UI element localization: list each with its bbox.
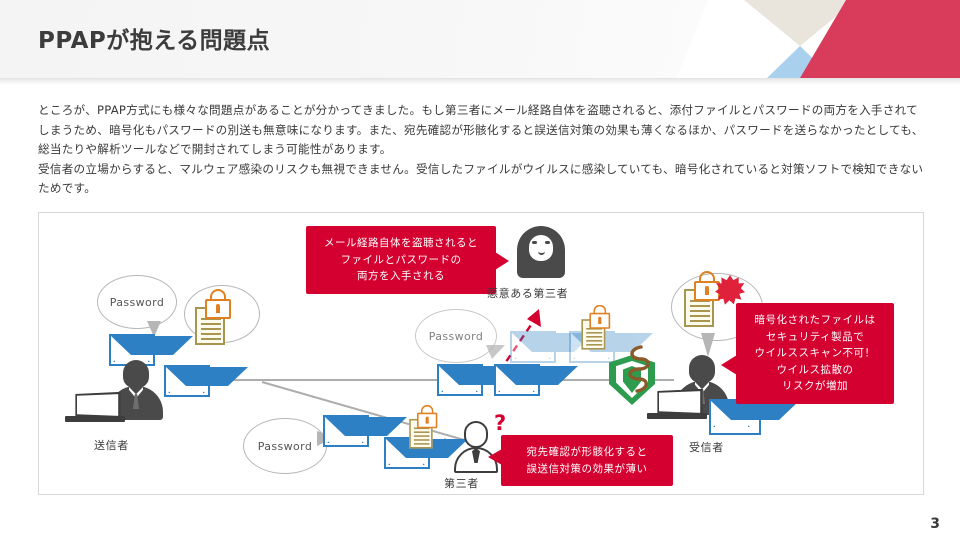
callout-encrypted-scan: 暗号化されたファイルは セキュリティ製品で ウイルススキャン不可！ ウイルス拡散… — [736, 303, 894, 404]
lock-keyhole-icon — [216, 304, 220, 313]
envelope-icon-wire-b — [494, 364, 540, 396]
callout-encrypted-scan-line-3: ウイルススキャン不可！ — [748, 345, 882, 362]
middle-password-label: Password — [429, 330, 484, 343]
locked-document-icon-lower — [403, 408, 444, 450]
callout-encrypted-scan-tip — [721, 355, 737, 375]
locked-document-icon — [187, 293, 239, 347]
attacker-face-icon — [529, 235, 553, 261]
callout-encrypted-scan-line-1: 暗号化されたファイルは — [748, 312, 882, 329]
lock-keyhole-icon-middle — [598, 317, 601, 324]
receiver-laptop-base-icon — [647, 413, 707, 419]
callout-address-check: 宛先確認が形骸化すると 誤送信対策の効果が薄い — [501, 435, 673, 486]
diagram-frame: Password 送信者 メール経路自体を盗聴されると ファイルとパスワードの … — [38, 212, 924, 495]
sender-laptop-icon — [65, 393, 125, 423]
sender-head-icon — [123, 360, 149, 388]
locked-document-icon-middle — [575, 308, 617, 351]
receiver-head-icon — [689, 355, 715, 383]
callout-address-check-tip — [488, 449, 502, 465]
question-mark-icon: ? — [494, 411, 506, 435]
attacker-person-icon — [517, 226, 565, 278]
lower-password-bubble: Password — [243, 418, 327, 474]
callout-encrypted-scan-line-4: ウイルス拡散の — [748, 362, 882, 379]
caption-sender: 送信者 — [94, 437, 129, 453]
header-shadow — [0, 78, 960, 85]
sender-laptop-base-icon — [65, 416, 125, 422]
callout-address-check-line-1: 宛先確認が形骸化すると — [513, 444, 661, 461]
callout-intercept: メール経路自体を盗聴されると ファイルとパスワードの 両方を入手される — [306, 226, 496, 294]
callout-encrypted-scan-line-5: リスクが増加 — [748, 378, 882, 395]
third-party-head-icon — [464, 421, 488, 448]
callout-encrypted-scan-line-2: セキュリティ製品で — [748, 329, 882, 346]
locked-document-icon-receiver — [676, 275, 728, 329]
body-copy: ところが、PPAP方式にも様々な問題点があることが分かってきました。もし第三者に… — [38, 101, 928, 199]
callout-intercept-line-1: メール経路自体を盗聴されると — [318, 235, 484, 252]
caption-attacker: 悪意ある第三者 — [487, 285, 568, 301]
callout-intercept-tip — [495, 252, 509, 270]
third-party-person-icon — [452, 421, 500, 473]
lock-keyhole-icon-receiver — [705, 286, 709, 295]
caption-receiver: 受信者 — [689, 439, 724, 455]
envelope-icon-thirdparty-password — [323, 415, 369, 447]
envelope-icon-ghost-password — [510, 331, 556, 363]
receiver-laptop-screen-icon — [657, 389, 702, 415]
sender-laptop-screen-icon — [75, 392, 120, 418]
body-paragraph-2: 受信者の立場からすると、マルウェア感染のリスクも無視できません。受信したファイル… — [38, 160, 928, 199]
caption-third-party: 第三者 — [444, 475, 479, 491]
lock-keyhole-icon-lower — [426, 417, 429, 424]
body-paragraph-1: ところが、PPAP方式にも様々な問題点があることが分かってきました。もし第三者に… — [38, 101, 928, 160]
callout-address-check-line-2: 誤送信対策の効果が薄い — [513, 461, 661, 478]
attacker-eye-right-icon — [545, 241, 550, 244]
page-title: PPAPが抱える問題点 — [38, 21, 270, 55]
middle-password-bubble: Password — [415, 309, 497, 363]
receiver-laptop-icon — [647, 390, 707, 420]
middle-password-bubble-tail — [486, 345, 505, 359]
envelope-icon-receiver — [709, 399, 761, 435]
lower-password-label: Password — [258, 440, 313, 453]
sender-password-label: Password — [110, 296, 165, 309]
attacker-eye-left-icon — [532, 241, 537, 244]
sender-password-bubble: Password — [97, 275, 177, 329]
envelope-icon-wire-a — [437, 364, 483, 396]
callout-intercept-line-2: ファイルとパスワードの — [318, 252, 484, 269]
callout-intercept-line-3: 両方を入手される — [318, 268, 484, 285]
page-number: 3 — [930, 516, 940, 532]
